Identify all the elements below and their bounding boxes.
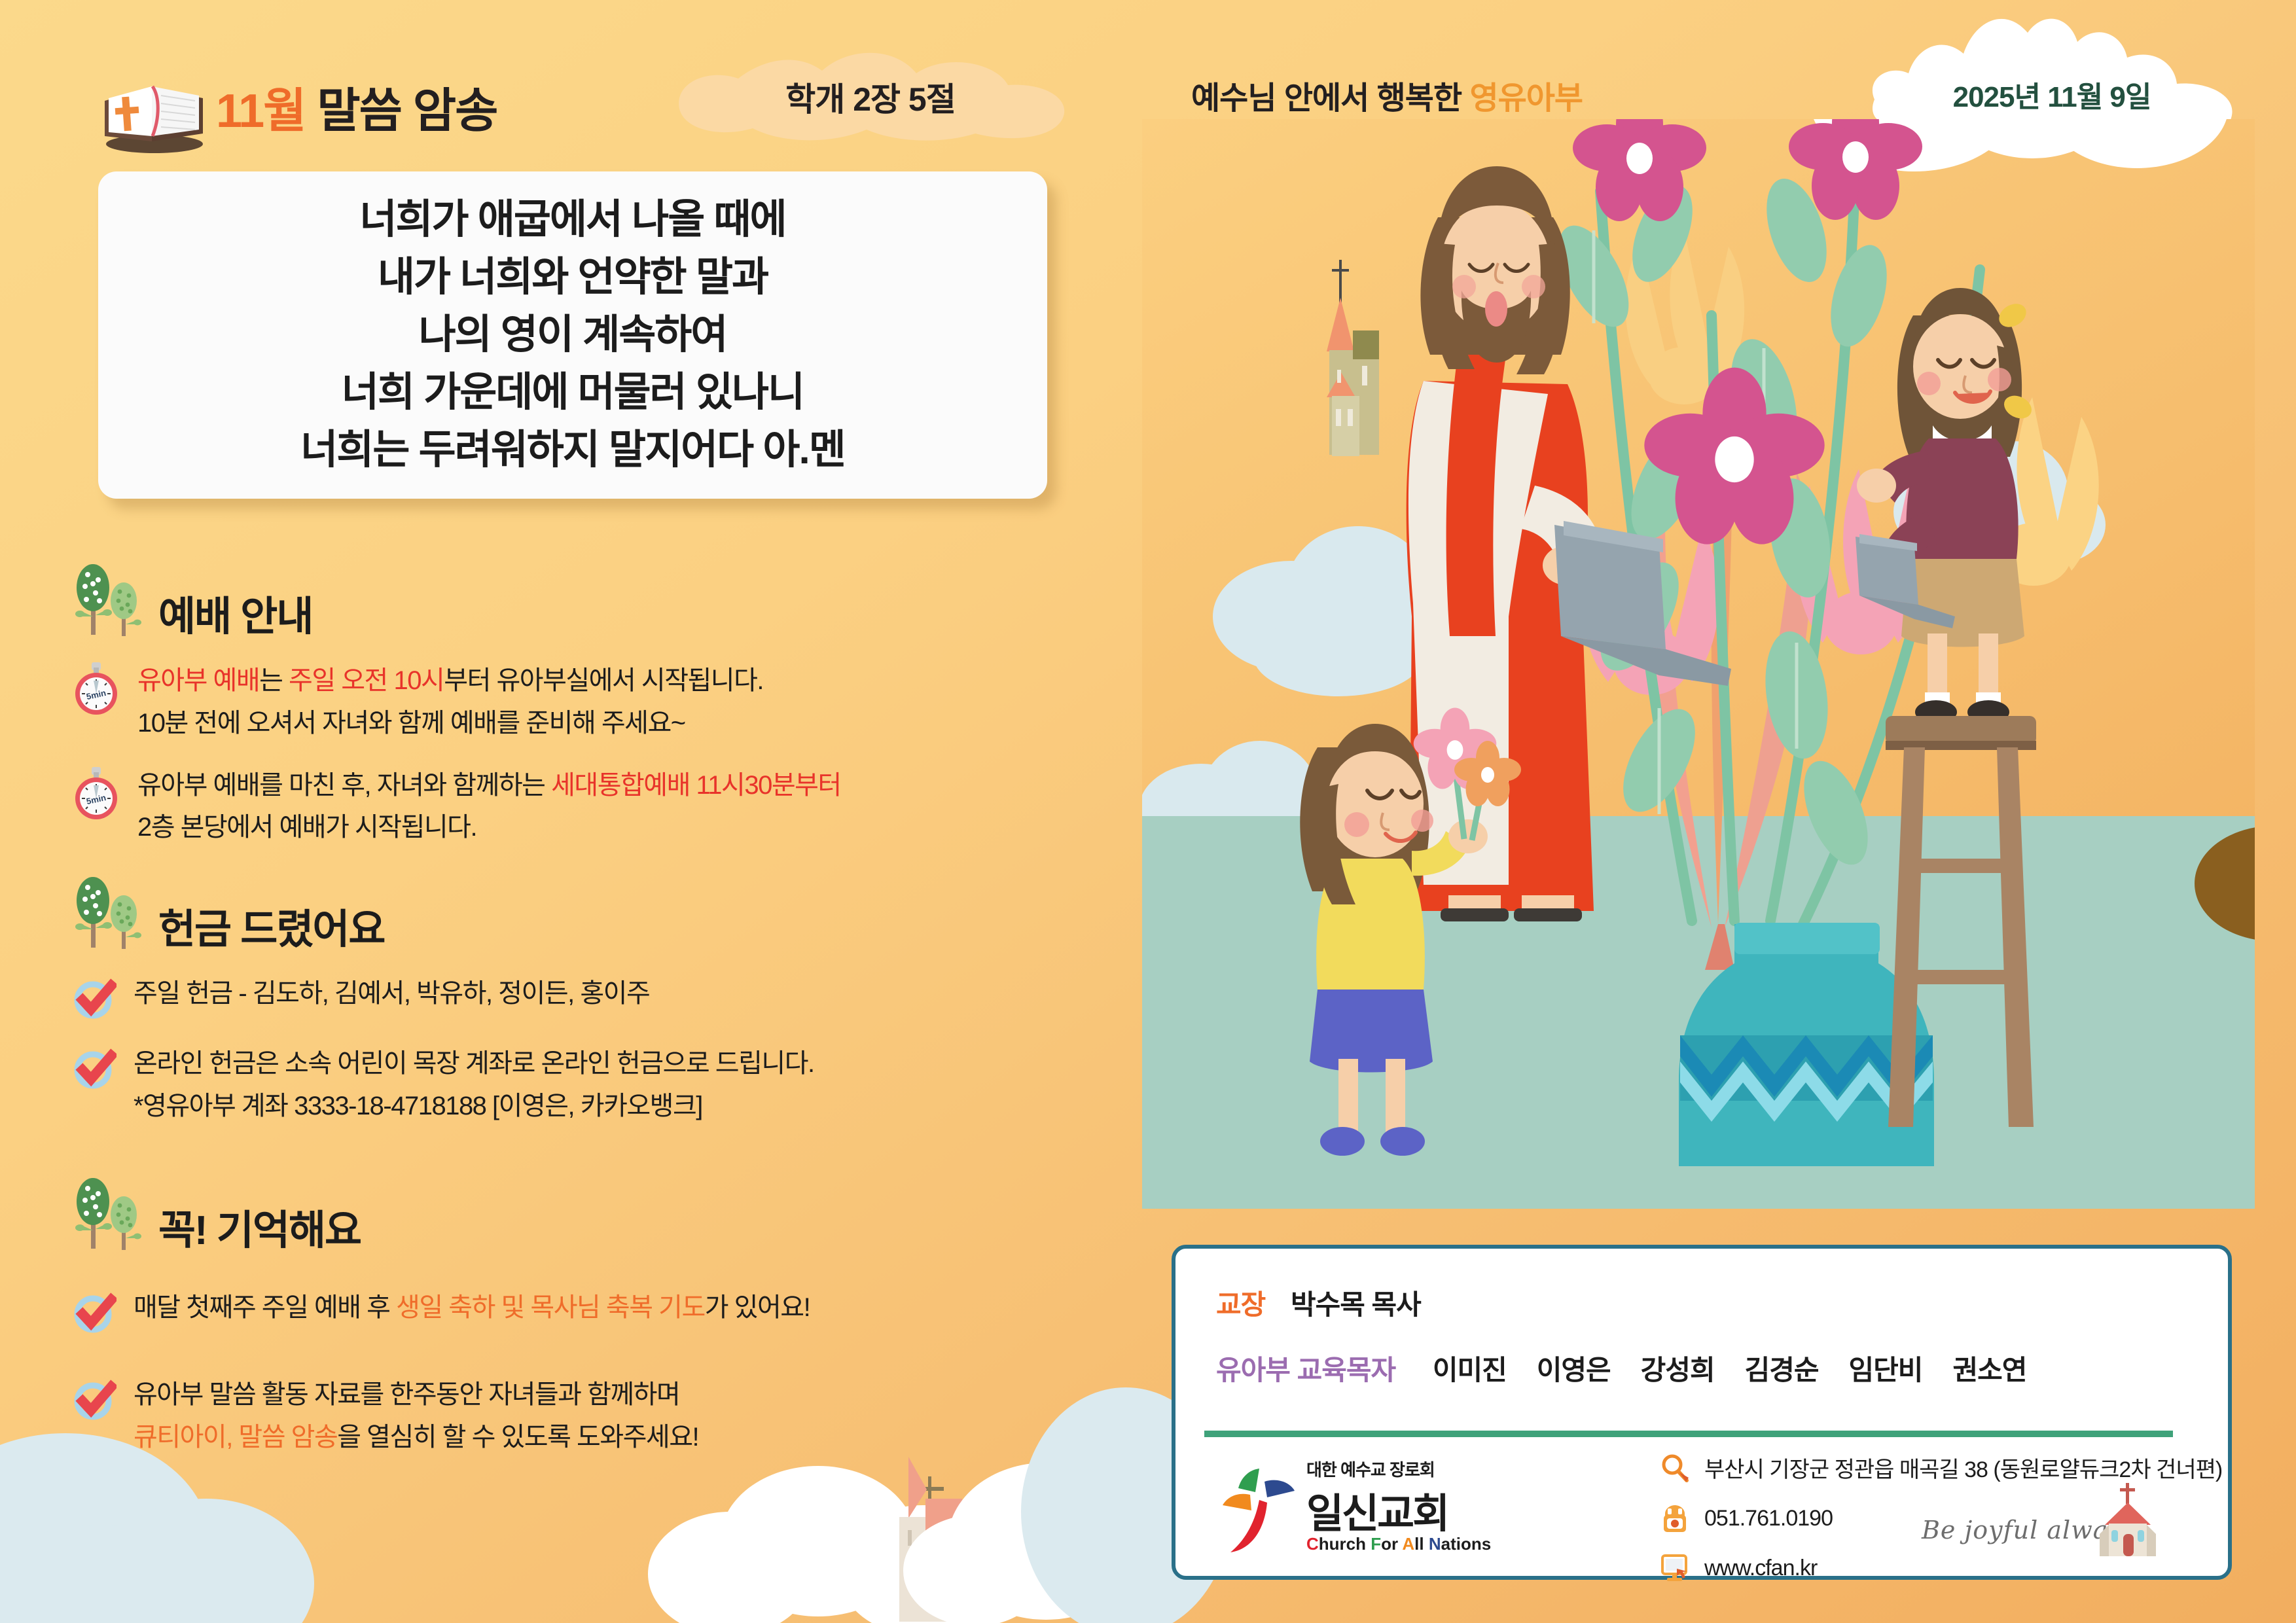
- text-line: *영유아부 계좌 3333-18-4718188 [이영은, 카카오뱅크]: [134, 1085, 814, 1128]
- child-right-figure: [1857, 288, 2036, 724]
- date-text: 2025년 11월 9일: [1865, 73, 2238, 115]
- list-item: 온라인 헌금은 소속 어린이 목장 계좌로 온라인 헌금으로 드립니다. *영유…: [72, 1043, 1093, 1128]
- check-circle-icon: [72, 1376, 117, 1424]
- list-item-text: 유아부 말씀 활동 자료를 한주동안 자녀들과 함께하며 큐티아이, 말씀 암송…: [134, 1374, 698, 1459]
- text-line: 2층 본당에서 예배가 시작됩니다.: [137, 806, 841, 849]
- verse-reference-text: 학개 2장 5절: [668, 51, 1073, 143]
- section-offering: 헌금 드렸어요 주일 헌금 - 김도하, 김예서, 박유하, 정이든, 홍이주: [72, 877, 1093, 1147]
- highlight-red: 주일 오전 10시: [289, 666, 444, 695]
- teachers-label: 유아부 교육목자: [1216, 1355, 1395, 1385]
- highlight-orange: 큐티아이, 말씀 암송: [134, 1423, 337, 1452]
- verse-line: 내가 너희와 언약한 말과: [300, 249, 844, 306]
- page-title-rest: 말씀 암송: [305, 85, 497, 137]
- telephone-icon: [1660, 1503, 1690, 1533]
- verse-line: 너희는 두려워하지 말지어다 아.멘: [300, 421, 844, 479]
- text-line: 매달 첫째주 주일 예배 후 생일 축하 및 목사님 축복 기도가 있어요!: [134, 1287, 810, 1329]
- section-header: 꼭! 기억해요: [72, 1178, 1093, 1251]
- text-plain: 유아부 예배를 마친 후, 자녀와 함께하는: [137, 771, 551, 800]
- list-item: 5min 유아부 예배는 주일 오전 10시부터 유아부실에서 시작됩니다. 1…: [72, 660, 1093, 745]
- text-line: 유아부 예배를 마친 후, 자녀와 함께하는 세대통합예배 11시30분부터: [137, 764, 841, 807]
- teacher-name: 이영은: [1537, 1355, 1611, 1385]
- contact-website-text: www.cfan.kr: [1704, 1556, 1817, 1581]
- teacher-name: 이미진: [1433, 1355, 1507, 1385]
- contact-phone-text: 051.761.0190: [1704, 1506, 1833, 1531]
- contact-address-text: 부산시 기장군 정관읍 매곡길 38 (동원로얄듀크2차 건너편): [1704, 1452, 2222, 1484]
- list-item: 매달 첫째주 주일 예배 후 생일 축하 및 목사님 축복 기도가 있어요!: [72, 1287, 1093, 1337]
- teacher-name: 임단비: [1849, 1355, 1923, 1385]
- principal-name: 박수목 목사: [1291, 1289, 1421, 1320]
- text-plain: 가 있어요!: [705, 1293, 810, 1322]
- highlight-red: 세대통합예배 11시30분부터: [551, 771, 841, 800]
- open-bible-icon: [98, 71, 209, 154]
- principal-label: 교장: [1216, 1289, 1265, 1320]
- text-plain: 을 열심히 할 수 있도록 도와주세요!: [337, 1423, 698, 1452]
- text-plain: 는: [259, 666, 289, 695]
- page-title: 11월 말씀 암송: [216, 72, 497, 141]
- verse-line: 너희 가운데에 머물러 있나니: [300, 364, 844, 421]
- text-line: 유아부 말씀 활동 자료를 한주동안 자녀들과 함께하며: [134, 1374, 698, 1416]
- section-title: 헌금 드렸어요: [158, 910, 384, 950]
- church-building-icon: [2092, 1483, 2164, 1560]
- text-line: 큐티아이, 말씀 암송을 열심히 할 수 있도록 도와주세요!: [134, 1416, 698, 1459]
- section-worship-info: 예배 안내: [72, 564, 1093, 868]
- memory-verse-card: 너희가 애굽에서 나올 때에 내가 너희와 언약한 말과 나의 영이 계속하여 …: [98, 171, 1047, 499]
- teachers-names: 이미진이영은강성희김경순임단비권소연: [1403, 1355, 2027, 1385]
- trees-icon: [72, 564, 144, 637]
- trees-icon: [72, 1178, 144, 1251]
- section-body: 5min 유아부 예배는 주일 오전 10시부터 유아부실에서 시작됩니다. 1…: [72, 660, 1093, 849]
- text-line: 10분 전에 오셔서 자녀와 함께 예배를 준비해 주세요~: [137, 702, 763, 745]
- list-item: 유아부 말씀 활동 자료를 한주동안 자녀들과 함께하며 큐티아이, 말씀 암송…: [72, 1374, 1093, 1459]
- check-circle-icon: [72, 1045, 117, 1093]
- list-item-text: 유아부 예배를 마친 후, 자녀와 함께하는 세대통합예배 11시30분부터 2…: [137, 764, 841, 849]
- search-pin-icon: [1660, 1453, 1690, 1483]
- highlight-red: 유아부 예배: [137, 666, 259, 695]
- page-title-month: 11월: [216, 85, 305, 137]
- illustration-scene: [1142, 119, 2255, 1209]
- logo-church-name: 일신교회: [1306, 1480, 1448, 1539]
- bulletin-page: 11월 말씀 암송 학개 2장 5절 예수님 안에서 행복한 영유아부 2025…: [0, 0, 2296, 1623]
- verse-line: 너희가 애굽에서 나올 때에: [300, 191, 844, 249]
- text-line: 유아부 예배는 주일 오전 10시부터 유아부실에서 시작됩니다.: [137, 660, 763, 702]
- teachers-row: 유아부 교육목자 이미진이영은강성희김경순임단비권소연: [1216, 1348, 2026, 1388]
- check-circle-icon: [72, 975, 117, 1023]
- stopwatch-icon: 5min: [72, 767, 120, 824]
- church-logo: 대한 예수교 장로회 일신교회 Church For All Nations: [1221, 1457, 1509, 1561]
- section-body: 주일 헌금 - 김도하, 김예서, 박유하, 정이든, 홍이주 온라인 헌금은 …: [72, 972, 1093, 1128]
- verse-reference-badge: 학개 2장 5절: [668, 51, 1073, 143]
- dirt-mound: [2195, 826, 2255, 941]
- slogan-accent: 영유아부: [1469, 81, 1583, 116]
- section-title: 예배 안내: [158, 597, 312, 637]
- text-plain: 부터 유아부실에서 시작됩니다.: [444, 666, 763, 695]
- text-line: 온라인 헌금은 소속 어린이 목장 계좌로 온라인 헌금으로 드립니다.: [134, 1043, 814, 1085]
- logo-mark-icon: [1221, 1459, 1300, 1558]
- list-item: 5min 유아부 예배를 마친 후, 자녀와 함께하는 세대통합예배 11시30…: [72, 764, 1093, 849]
- step-stool: [1886, 716, 2036, 1127]
- info-card: 교장 박수목 목사 유아부 교육목자 이미진이영은강성희김경순임단비권소연 대한…: [1172, 1245, 2232, 1580]
- list-item-text: 온라인 헌금은 소속 어린이 목장 계좌로 온라인 헌금으로 드립니다. *영유…: [134, 1043, 814, 1128]
- logo-denomination: 대한 예수교 장로회: [1306, 1457, 1435, 1481]
- section-header: 예배 안내: [72, 564, 1093, 637]
- list-item-text: 주일 헌금 - 김도하, 김예서, 박유하, 정이든, 홍이주: [134, 972, 649, 1015]
- teacher-name: 권소연: [1952, 1355, 2026, 1385]
- stopwatch-icon: 5min: [72, 662, 120, 719]
- slogan: 예수님 안에서 행복한 영유아부: [1191, 72, 1583, 118]
- contact-address: 부산시 기장군 정관읍 매곡길 38 (동원로얄듀크2차 건너편): [1660, 1452, 2222, 1484]
- section-header: 헌금 드렸어요: [72, 877, 1093, 950]
- slogan-main: 예수님 안에서 행복한: [1191, 81, 1469, 116]
- principal-row: 교장 박수목 목사: [1216, 1283, 1421, 1323]
- section-remember: 꼭! 기억해요 매달 첫째주 주일 예배 후 생일 축하 및 목사님 축복 기도…: [72, 1178, 1093, 1478]
- section-body: 매달 첫째주 주일 예배 후 생일 축하 및 목사님 축복 기도가 있어요! 유…: [72, 1287, 1093, 1459]
- highlight-orange: 생일 축하 및 목사님 축복 기도: [396, 1293, 705, 1322]
- memory-verse-lines: 너희가 애굽에서 나올 때에 내가 너희와 언약한 말과 나의 영이 계속하여 …: [300, 191, 844, 479]
- divider: [1204, 1431, 2173, 1437]
- hero-illustration: [1142, 119, 2255, 1209]
- list-item: 주일 헌금 - 김도하, 김예서, 박유하, 정이든, 홍이주: [72, 972, 1093, 1023]
- trees-icon: [72, 877, 144, 950]
- text-plain: 매달 첫째주 주일 예배 후: [134, 1293, 396, 1322]
- teacher-name: 강성희: [1641, 1355, 1715, 1385]
- monitor-icon: [1660, 1553, 1690, 1583]
- child-left-figure: [1300, 708, 1521, 1156]
- section-title: 꼭! 기억해요: [158, 1211, 361, 1251]
- text-line: 주일 헌금 - 김도하, 김예서, 박유하, 정이든, 홍이주: [134, 972, 649, 1015]
- list-item-text: 유아부 예배는 주일 오전 10시부터 유아부실에서 시작됩니다. 10분 전에…: [137, 660, 763, 745]
- verse-line: 나의 영이 계속하여: [300, 306, 844, 364]
- teacher-name: 김경순: [1745, 1355, 1819, 1385]
- list-item-text: 매달 첫째주 주일 예배 후 생일 축하 및 목사님 축복 기도가 있어요!: [134, 1287, 810, 1329]
- check-circle-icon: [72, 1289, 117, 1337]
- logo-english-name: Church For All Nations: [1306, 1534, 1491, 1554]
